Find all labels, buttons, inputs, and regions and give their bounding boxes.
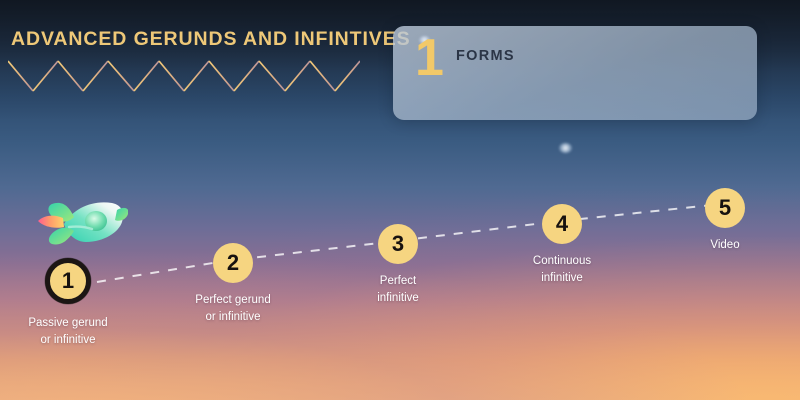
panel-number: 1 [415,32,444,84]
step-caption: Perfect infinitive [333,273,463,307]
roadmap-step-1[interactable]: 1 Passive gerund or infinitive [3,258,133,349]
step-caption: Perfect gerund or infinitive [168,292,298,326]
step-number-badge: 2 [213,243,253,283]
step-number-badge: 5 [705,188,745,228]
page-title: ADVANCED GERUNDS AND INFINTIVES [11,28,411,51]
step-number-badge: 3 [378,224,418,264]
roadmap-step-2[interactable]: 2 Perfect gerund or infinitive [168,243,298,326]
truss-decoration-icon [8,58,360,96]
step-caption: Passive gerund or infinitive [3,315,133,349]
step-number-badge: 4 [542,204,582,244]
forms-panel[interactable]: 1 FORMS [393,26,757,120]
step-caption: Video [660,237,790,254]
panel-label: FORMS [456,48,515,64]
roadmap-step-4[interactable]: 4 Continuous infinitive [497,204,627,287]
step-number-badge: 1 [45,258,91,304]
star-glow-icon [559,143,572,153]
rocket-icon [34,196,128,254]
roadmap-step-3[interactable]: 3 Perfect infinitive [333,224,463,307]
step-caption: Continuous infinitive [497,253,627,287]
roadmap-step-5[interactable]: 5 Video [660,188,790,254]
slide-canvas: ADVANCED GERUNDS AND INFINTIVES [0,0,800,400]
